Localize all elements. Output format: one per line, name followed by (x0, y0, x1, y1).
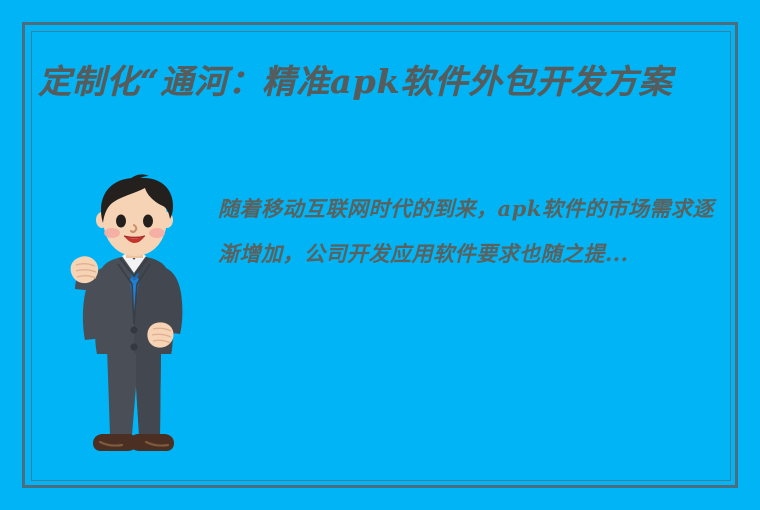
article-title: 定制化“通河：精准apk软件外包开发方案 (38, 58, 738, 106)
shoes-shape (93, 434, 174, 451)
trousers-shape (107, 347, 161, 435)
blush-left-shape (104, 228, 120, 238)
article-card: 定制化“通河：精准apk软件外包开发方案 (0, 0, 760, 510)
article-excerpt: 随着移动互联网时代的到来，apk软件的市场需求逐渐增加，公司开发应用软件要求也随… (218, 186, 723, 276)
eye-left-shape (116, 215, 126, 228)
eye-right-shape (143, 215, 153, 228)
businessman-illustration (60, 172, 210, 484)
blush-right-shape (149, 228, 165, 238)
